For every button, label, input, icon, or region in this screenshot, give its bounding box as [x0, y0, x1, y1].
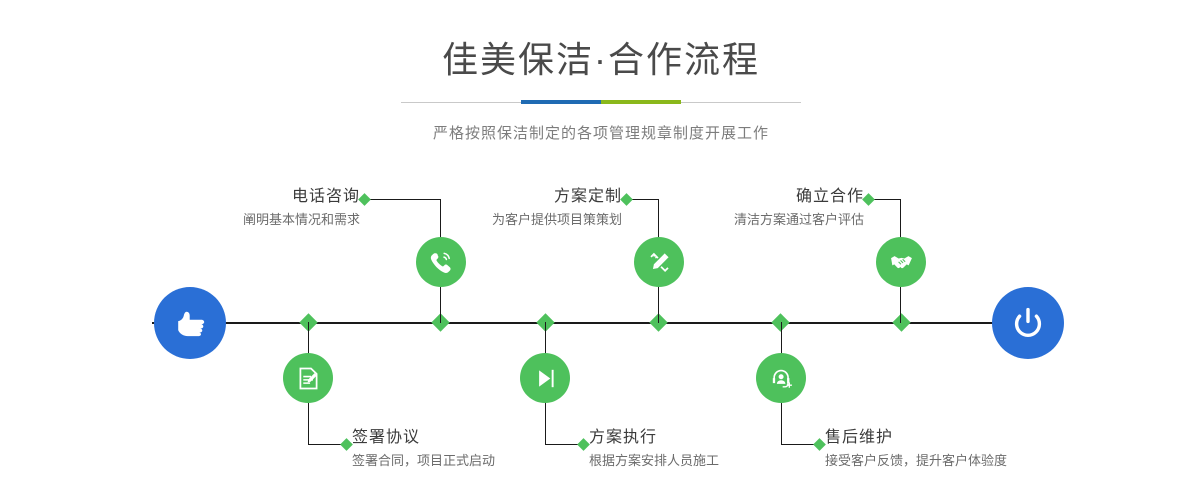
phone-call-icon — [427, 248, 455, 276]
play-execute-icon — [532, 365, 559, 392]
step-label-5: 确立合作 清洁方案通过客户评估 — [672, 187, 864, 230]
step-node-2[interactable] — [283, 353, 333, 403]
step-label-1: 电话咨询 阐明基本情况和需求 — [170, 187, 360, 230]
step-node-3[interactable] — [634, 237, 684, 287]
power-icon — [1008, 303, 1048, 343]
step-title-2: 签署协议 — [352, 428, 582, 448]
timeline-start-endpoint[interactable] — [154, 287, 226, 359]
timeline-axis — [152, 322, 1052, 324]
handshake-icon — [888, 249, 915, 276]
step-label-3: 方案定制 为客户提供项目策策划 — [430, 187, 622, 230]
connector-tick-step-5 — [862, 193, 875, 206]
pointing-hand-icon — [170, 303, 210, 343]
step-title-4: 方案执行 — [589, 428, 819, 448]
step-label-2: 签署协议 签署合同，项目正式启动 — [352, 428, 582, 471]
step-label-4: 方案执行 根据方案安排人员施工 — [589, 428, 819, 471]
step-title-5: 确立合作 — [672, 187, 864, 207]
step-node-6[interactable] — [756, 353, 806, 403]
connector-tick-step-3 — [620, 193, 633, 206]
step-title-1: 电话咨询 — [170, 187, 360, 207]
step-node-4[interactable] — [520, 353, 570, 403]
step-node-5[interactable] — [876, 237, 926, 287]
step-label-6: 售后维护 接受客户反馈，提升客户体验度 — [825, 428, 1085, 471]
step-desc-2: 签署合同，项目正式启动 — [352, 451, 582, 471]
step-desc-3: 为客户提供项目策策划 — [430, 210, 622, 230]
connector-hline-step-1 — [364, 199, 440, 200]
process-timeline: 电话咨询 阐明基本情况和需求 签署协议 签署合同，项目正式启动 — [0, 0, 1202, 502]
step-desc-4: 根据方案安排人员施工 — [589, 451, 819, 471]
step-desc-6: 接受客户反馈，提升客户体验度 — [825, 451, 1085, 471]
timeline-end-endpoint[interactable] — [992, 287, 1064, 359]
flowchart-page: 佳美保洁·合作流程 严格按照保洁制定的各项管理规章制度开展工作 — [0, 0, 1202, 502]
step-title-6: 售后维护 — [825, 428, 1085, 448]
step-desc-5: 清洁方案通过客户评估 — [672, 210, 864, 230]
pencil-ruler-icon — [646, 249, 673, 276]
step-desc-1: 阐明基本情况和需求 — [170, 210, 360, 230]
step-title-3: 方案定制 — [430, 187, 622, 207]
step-node-1[interactable] — [416, 237, 466, 287]
headset-support-icon — [768, 365, 795, 392]
connector-tick-step-2 — [340, 438, 353, 451]
axis-diamond-6 — [892, 313, 910, 331]
connector-tick-step-1 — [358, 193, 371, 206]
document-pen-icon — [295, 365, 322, 392]
